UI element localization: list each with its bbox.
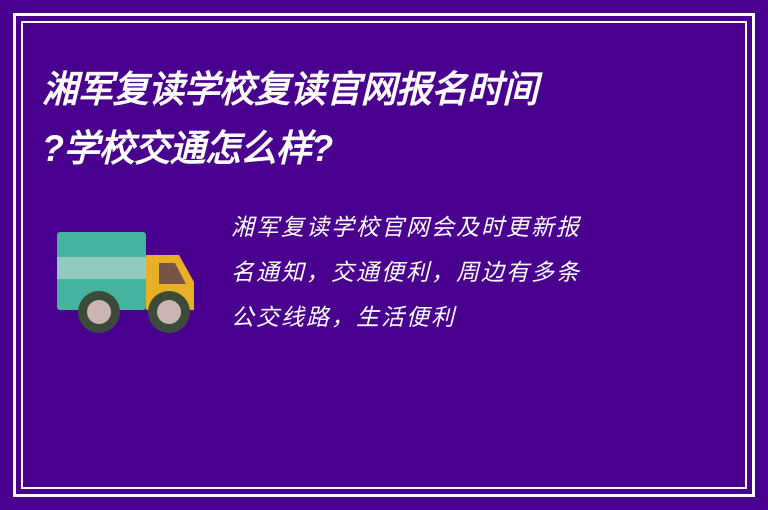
truck-rear-hub xyxy=(87,300,111,324)
poster-canvas: 湘军复读学校复读官网报名时间 ?学校交通怎么样? 湘 xyxy=(0,0,768,510)
body-line-3: 公交线路，生活便利 xyxy=(231,296,661,341)
body-line-2: 名通知，交通便利，周边有多条 xyxy=(231,251,661,296)
delivery-truck-illustration xyxy=(55,214,205,344)
truck-cargo-stripe xyxy=(57,257,146,279)
headline-line-1: 湘军复读学校复读官网报名时间 xyxy=(42,60,663,119)
body-line-1: 湘军复读学校官网会及时更新报 xyxy=(231,206,661,251)
delivery-truck-icon xyxy=(55,214,205,344)
truck-front-hub xyxy=(157,300,181,324)
headline-line-2: ?学校交通怎么样? xyxy=(42,119,663,178)
body-paragraph: 湘军复读学校官网会及时更新报 名通知，交通便利，周边有多条 公交线路，生活便利 xyxy=(231,206,661,341)
headline-block: 湘军复读学校复读官网报名时间 ?学校交通怎么样? xyxy=(42,60,682,178)
